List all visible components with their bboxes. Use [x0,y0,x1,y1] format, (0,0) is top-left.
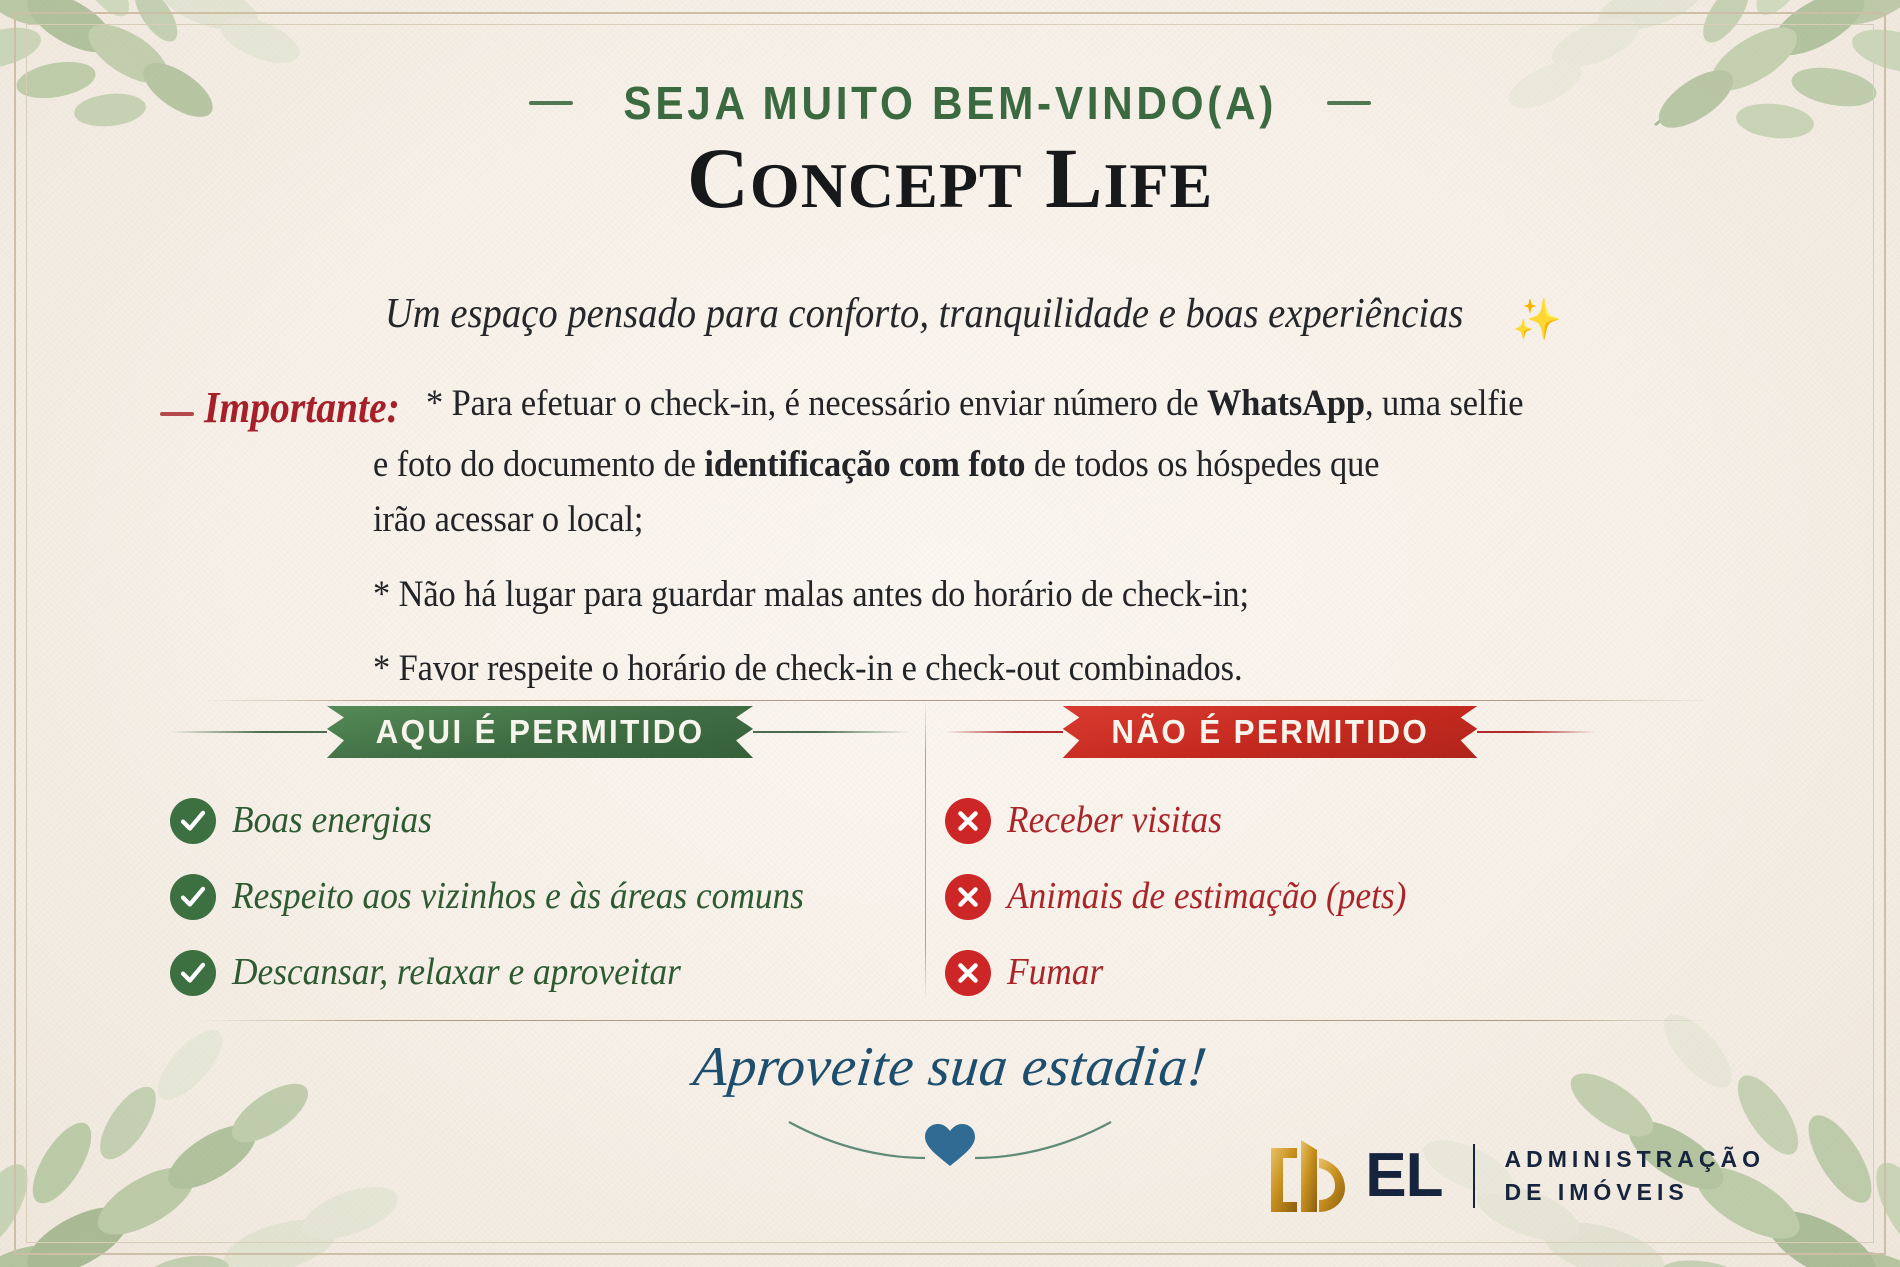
divider-vertical [925,700,926,1000]
logo-tagline: ADMINISTRAÇÃO DE IMÓVEIS [1505,1143,1766,1210]
important-bullet-3-row: * Favor respeite o horário de check-in e… [373,645,1750,694]
logo-tagline-line-1: ADMINISTRAÇÃO [1505,1146,1766,1172]
forbidden-list: Receber visitas Animais de estimação (pe… [945,798,1595,996]
important-paragraph-line-2: e foto do documento de identificação com… [373,441,1654,490]
welcome-text: SEJA MUITO BEM-VINDO(A) [623,76,1277,130]
id-photo-emphasis: identificação com foto [704,444,1025,485]
forbidden-item-label: Fumar [1007,952,1103,994]
allowed-rule-right [753,731,910,733]
subtitle-text: Um espaço pensado para conforto, tranqui… [385,290,1464,338]
allowed-ribbon: AQUI É PERMITIDO [327,706,753,758]
important-section: Importante: * Para efetuar o check-in, é… [160,380,1750,694]
imp-text-a: * Para efetuar o check-in, é necessário … [426,383,1207,424]
important-first-line: Importante: * Para efetuar o check-in, é… [160,380,1750,435]
important-continuation: e foto do documento de identificação com… [373,441,1750,545]
sparkles-icon: ✨ [1512,300,1562,340]
list-item: Respeito aos vizinhos e às áreas comuns [170,874,910,920]
important-bullet-2: * Não há lugar para guardar malas antes … [373,571,1654,620]
important-bullet-3: * Favor respeite o horário de check-in e… [373,645,1654,694]
welcome-dash-right [1327,101,1371,105]
whatsapp-emphasis: WhatsApp [1207,383,1365,424]
x-icon [945,798,991,844]
list-item: Descansar, relaxar e aproveitar [170,950,910,996]
page-title: CONCEPT LIFE [0,135,1900,221]
important-dash [160,412,194,416]
check-icon [170,798,216,844]
list-item: Receber visitas [945,798,1595,844]
forbidden-column: NÃO É PERMITIDO Receber visitas Animais … [945,700,1595,1026]
brand-title-l: L [1045,130,1103,226]
list-item: Boas energias [170,798,910,844]
important-paragraph-line-3: irão acessar o local; [373,496,1654,545]
logo-wordmark: EL [1365,1148,1442,1204]
welcome-header: SEJA MUITO BEM-VINDO(A) [0,76,1900,130]
forbidden-ribbon-label: NÃO É PERMITIDO [1111,713,1429,751]
list-item: Fumar [945,950,1595,996]
forbidden-ribbon: NÃO É PERMITIDO [1063,706,1478,758]
check-icon [170,950,216,996]
allowed-list: Boas energias Respeito aos vizinhos e às… [170,798,910,996]
forbidden-item-label: Receber visitas [1007,800,1222,842]
check-icon [170,874,216,920]
welcome-dash-left [529,101,573,105]
forbidden-rule-left [945,731,1063,733]
logo-separator [1473,1144,1475,1208]
allowed-item-label: Descansar, relaxar e aproveitar [232,952,681,994]
poster-root: SEJA MUITO BEM-VINDO(A) CONCEPT LIFE Um … [0,0,1900,1267]
list-item: Animais de estimação (pets) [945,874,1595,920]
important-paragraph-line-1: * Para efetuar o check-in, é necessário … [426,380,1658,429]
x-icon [945,874,991,920]
allowed-item-label: Respeito aos vizinhos e às áreas comuns [232,876,804,918]
allowed-ribbon-label: AQUI É PERMITIDO [376,713,705,751]
company-logo: EL ADMINISTRAÇÃO DE IMÓVEIS [1267,1140,1765,1212]
forbidden-item-label: Animais de estimação (pets) [1007,876,1406,918]
allowed-rule-left [170,731,327,733]
important-bullet-2-row: * Não há lugar para guardar malas antes … [373,571,1750,620]
forbidden-rule-right [1477,731,1595,733]
imp-text-c: e foto do documento de [373,444,704,485]
logo-tagline-line-2: DE IMÓVEIS [1505,1179,1689,1205]
brand-title-oncept: ONCEPT [750,150,1023,221]
forbidden-ribbon-row: NÃO É PERMITIDO [945,700,1595,764]
del-building-icon [1267,1140,1353,1212]
brand-title-c: C [687,130,750,226]
brand-title-ife: IFE [1103,150,1213,221]
closing-text: Aproveite sua estadia! [690,1035,1210,1099]
subtitle-row: Um espaço pensado para conforto, tranqui… [0,290,1900,340]
imp-text-d: de todos os hóspedes que [1025,444,1379,485]
allowed-ribbon-row: AQUI É PERMITIDO [170,700,910,764]
x-icon [945,950,991,996]
important-label: Importante: [204,380,400,435]
allowed-item-label: Boas energias [232,800,432,842]
imp-text-b: , uma selfie [1365,383,1523,424]
closing-message: Aproveite sua estadia! [0,1035,1900,1099]
allowed-column: AQUI É PERMITIDO Boas energias Respeito … [170,700,910,1026]
